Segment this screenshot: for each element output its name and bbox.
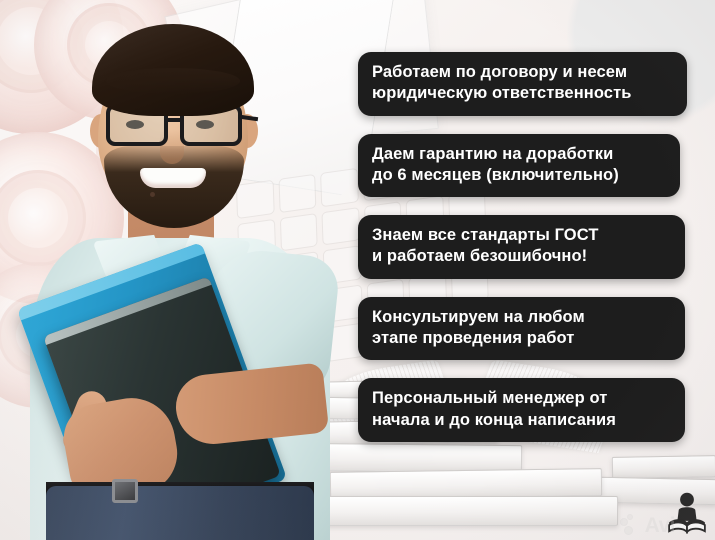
belt-buckle [112, 479, 138, 503]
avito-dot [627, 514, 633, 520]
hair [92, 24, 254, 116]
benefit-chip-contract-liability: Работаем по договору и несем юридическую… [358, 52, 687, 116]
benefit-chip-gost-standards: Знаем все стандарты ГОСТ и работаем безо… [358, 215, 685, 279]
head [84, 22, 262, 222]
stacked-book [318, 496, 618, 526]
smiling-mouth [140, 168, 206, 188]
advertisement-card: Работаем по договору и несем юридическую… [0, 0, 715, 540]
benefit-chip-personal-manager: Персональный менеджер от начала и до кон… [358, 378, 685, 442]
avito-watermark: Avi [620, 514, 675, 536]
watermark: Avi [620, 492, 709, 536]
avito-dot [620, 518, 628, 526]
avito-brand-text: Avi [645, 515, 675, 536]
benefits-list: Работаем по договору и несем юридическую… [358, 52, 688, 442]
benefit-chip-revision-guarantee: Даем гарантию на доработки до 6 месяцев … [358, 134, 680, 198]
mole [150, 192, 155, 197]
eyeglass-bridge [168, 118, 182, 122]
eyeglass-temple [240, 115, 258, 121]
stacked-book [612, 455, 715, 479]
avito-dot [624, 526, 633, 535]
avito-dots-icon [620, 514, 642, 536]
benefit-chip-consulting: Консультируем на любом этапе проведения … [358, 297, 685, 361]
subject-photo [0, 0, 360, 540]
jeans [46, 486, 314, 540]
